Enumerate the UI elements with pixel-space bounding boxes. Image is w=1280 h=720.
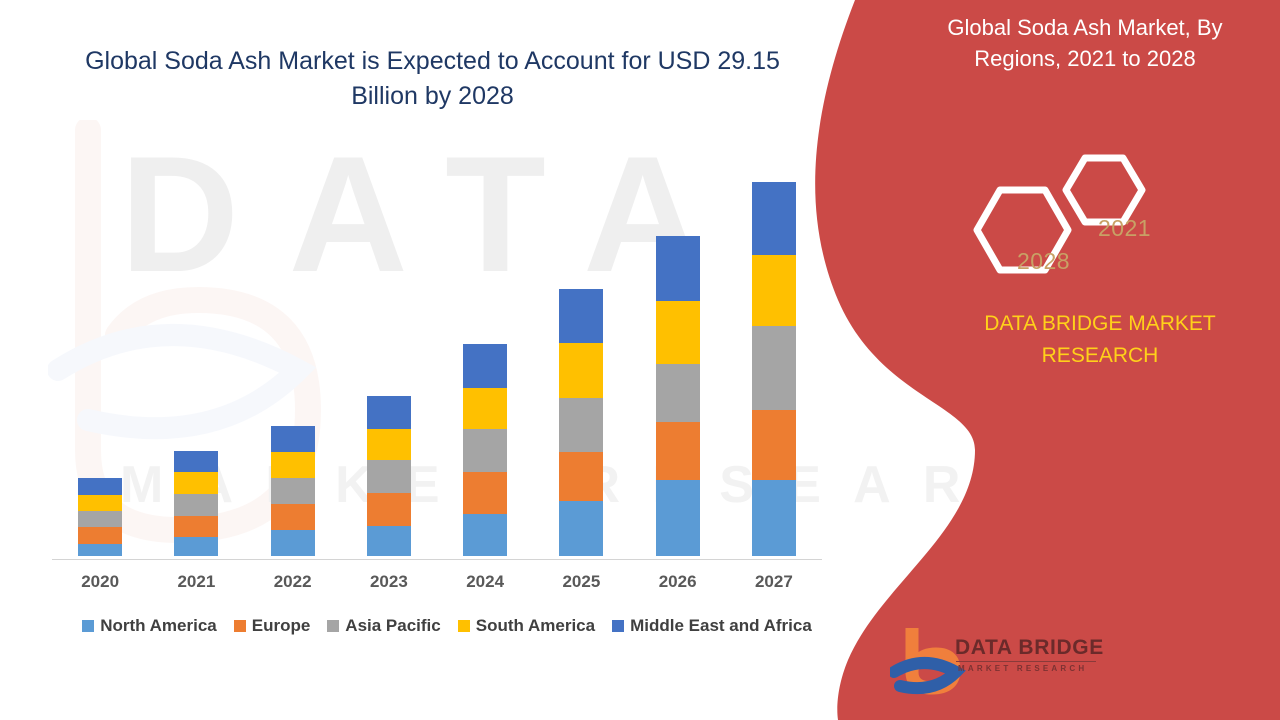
bar-segment[interactable] xyxy=(78,495,122,511)
bar-segment[interactable] xyxy=(78,527,122,544)
chart-panel: DATA BRIDGE MARKET RESEARCH Global Soda … xyxy=(0,0,980,720)
chart-plot-area xyxy=(52,150,822,557)
brand-name: DATA BRIDGE MARKET RESEARCH xyxy=(935,308,1265,372)
legend-item[interactable]: Middle East and Africa xyxy=(612,616,812,636)
bar-segment[interactable] xyxy=(367,493,411,526)
bar-segment[interactable] xyxy=(78,544,122,556)
bar-segment[interactable] xyxy=(559,501,603,556)
bar-segment[interactable] xyxy=(174,494,218,516)
legend-swatch-icon xyxy=(82,620,94,632)
page-title: Global Soda Ash Market is Expected to Ac… xyxy=(70,44,795,113)
x-axis-labels: 20202021202220232024202520262027 xyxy=(52,572,822,598)
logo-wordmark: DATA BRIDGE xyxy=(955,636,1104,660)
legend-label: South America xyxy=(476,616,595,636)
bar-segment[interactable] xyxy=(559,398,603,452)
bar-segment[interactable] xyxy=(174,451,218,472)
bar-segment[interactable] xyxy=(656,236,700,301)
legend-item[interactable]: Asia Pacific xyxy=(327,616,440,636)
stacked-bar-chart xyxy=(52,150,822,560)
hexagon-outline-2021 xyxy=(1066,158,1142,222)
chart-legend: North AmericaEuropeAsia PacificSouth Ame… xyxy=(52,616,842,636)
bar-segment[interactable] xyxy=(656,422,700,480)
x-axis-line xyxy=(52,559,822,560)
bar-segment[interactable] xyxy=(463,429,507,472)
bar-segment[interactable] xyxy=(367,396,411,429)
company-logo: DATA BRIDGE MARKET RESEARCH xyxy=(890,628,1105,700)
bar-segment[interactable] xyxy=(367,460,411,493)
bar-segment[interactable] xyxy=(559,343,603,397)
bar-column-2021[interactable] xyxy=(174,451,218,556)
bar-segment[interactable] xyxy=(752,480,796,556)
bar-segment[interactable] xyxy=(463,344,507,387)
bar-segment[interactable] xyxy=(463,388,507,429)
bar-segment[interactable] xyxy=(752,255,796,326)
bar-segment[interactable] xyxy=(174,516,218,537)
legend-swatch-icon xyxy=(327,620,339,632)
bar-column-2025[interactable] xyxy=(559,289,603,556)
bar-segment[interactable] xyxy=(174,472,218,494)
bar-segment[interactable] xyxy=(463,472,507,514)
legend-swatch-icon xyxy=(234,620,246,632)
legend-label: Asia Pacific xyxy=(345,616,440,636)
bar-segment[interactable] xyxy=(559,452,603,501)
bar-segment[interactable] xyxy=(271,530,315,556)
bar-segment[interactable] xyxy=(271,504,315,530)
x-axis-tick-2024: 2024 xyxy=(437,572,533,592)
bar-segment[interactable] xyxy=(656,301,700,363)
bar-column-2026[interactable] xyxy=(656,236,700,556)
logo-tagline: MARKET RESEARCH xyxy=(958,664,1087,673)
hex-label-end-year: 2028 xyxy=(1017,248,1070,275)
bar-segment[interactable] xyxy=(367,429,411,460)
x-axis-tick-2026: 2026 xyxy=(630,572,726,592)
x-axis-tick-2025: 2025 xyxy=(533,572,629,592)
bar-column-2024[interactable] xyxy=(463,344,507,556)
bar-segment[interactable] xyxy=(656,364,700,422)
legend-item[interactable]: Europe xyxy=(234,616,311,636)
bar-segment[interactable] xyxy=(174,537,218,556)
panel-title: Global Soda Ash Market, By Regions, 2021… xyxy=(915,12,1255,74)
legend-label: Europe xyxy=(252,616,311,636)
bar-segment[interactable] xyxy=(271,478,315,504)
bar-segment[interactable] xyxy=(752,326,796,409)
legend-label: North America xyxy=(100,616,217,636)
bar-segment[interactable] xyxy=(78,478,122,495)
bar-segment[interactable] xyxy=(656,480,700,556)
bar-segment[interactable] xyxy=(271,452,315,478)
x-axis-tick-2027: 2027 xyxy=(726,572,822,592)
legend-swatch-icon xyxy=(458,620,470,632)
bar-segment[interactable] xyxy=(752,182,796,255)
bar-column-2022[interactable] xyxy=(271,426,315,556)
logo-divider xyxy=(956,661,1096,662)
x-axis-tick-2022: 2022 xyxy=(245,572,341,592)
bar-segment[interactable] xyxy=(271,426,315,452)
bar-segment[interactable] xyxy=(78,511,122,527)
bar-segment[interactable] xyxy=(367,526,411,556)
legend-item[interactable]: North America xyxy=(82,616,217,636)
red-panel-content: Global Soda Ash Market, By Regions, 2021… xyxy=(955,0,1280,720)
legend-label: Middle East and Africa xyxy=(630,616,812,636)
bar-segment[interactable] xyxy=(559,289,603,343)
bar-segment[interactable] xyxy=(752,410,796,480)
x-axis-tick-2021: 2021 xyxy=(148,572,244,592)
infographic-canvas: DATA BRIDGE MARKET RESEARCH Global Soda … xyxy=(0,0,1280,720)
bar-column-2023[interactable] xyxy=(367,396,411,556)
legend-item[interactable]: South America xyxy=(458,616,595,636)
bar-column-2020[interactable] xyxy=(78,478,122,556)
x-axis-tick-2020: 2020 xyxy=(52,572,148,592)
legend-swatch-icon xyxy=(612,620,624,632)
x-axis-tick-2023: 2023 xyxy=(341,572,437,592)
hex-label-start-year: 2021 xyxy=(1098,215,1151,242)
bar-column-2027[interactable] xyxy=(752,182,796,556)
bar-segment[interactable] xyxy=(463,514,507,556)
